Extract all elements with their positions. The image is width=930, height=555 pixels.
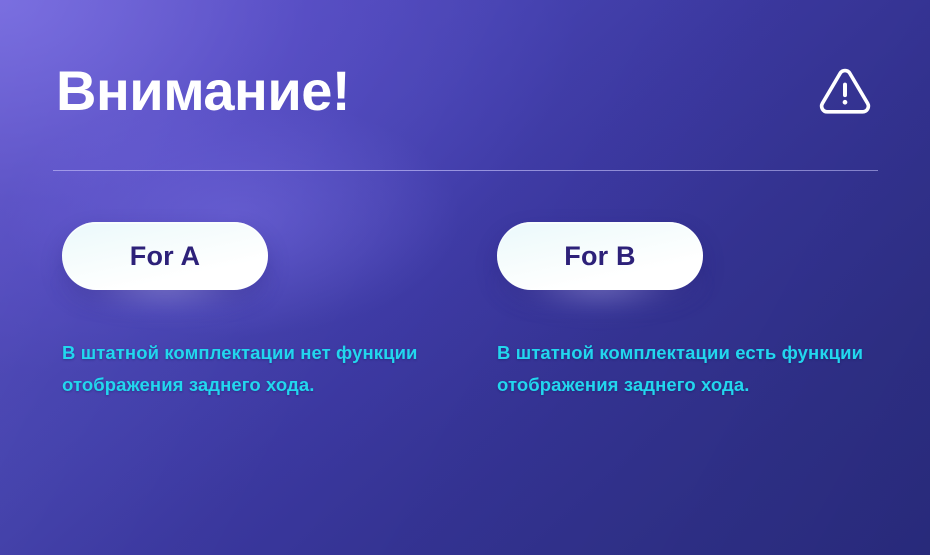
header-divider (53, 170, 878, 171)
column-for-b: For B В штатной комплектации есть функци… (497, 222, 897, 401)
columns-container: For A В штатной комплектации нет функции… (0, 222, 930, 401)
for-a-button-label: For A (130, 243, 201, 270)
warning-triangle-icon (816, 62, 874, 120)
column-a-body-text: В штатной комплектации нет функции отобр… (62, 337, 444, 401)
column-b-body-text: В штатной комплектации есть функции отоб… (497, 337, 879, 401)
slide-root: Внимание! For A В штатной (0, 0, 930, 555)
header: Внимание! (56, 52, 874, 130)
column-for-a: For A В штатной комплектации нет функции… (62, 222, 462, 401)
button-wrap-for-b: For B (497, 222, 703, 290)
button-wrap-for-a: For A (62, 222, 268, 290)
for-a-button[interactable]: For A (62, 222, 268, 290)
page-title: Внимание! (56, 63, 350, 119)
for-b-button-label: For B (564, 243, 636, 270)
for-b-button[interactable]: For B (497, 222, 703, 290)
